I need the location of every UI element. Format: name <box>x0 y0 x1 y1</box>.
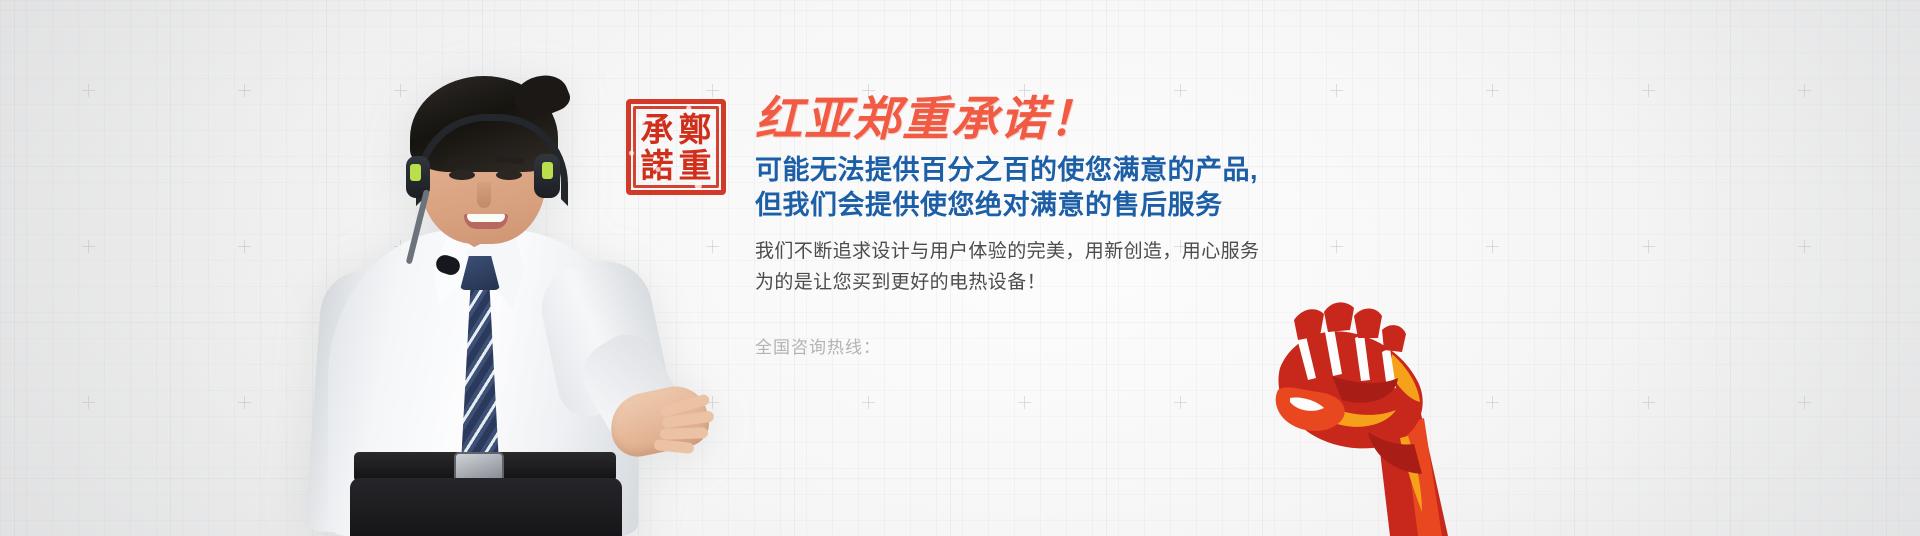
crosshair-mark <box>238 396 251 409</box>
promo-banner: 承 鄭 諾 重 红亚郑重承诺！ 可能无法提供百分之百的使您满意的产品, 但我们会… <box>0 0 1920 536</box>
raised-fist-illustration <box>1272 250 1522 536</box>
crosshair-mark <box>238 84 251 97</box>
headset-accent-left <box>410 164 421 181</box>
crosshair-mark <box>1018 396 1031 409</box>
seal-character-cheng: 承 <box>638 111 676 147</box>
crosshair-mark <box>862 396 875 409</box>
crosshair-mark <box>1798 396 1811 409</box>
crosshair-mark <box>1642 84 1655 97</box>
agent-teeth <box>467 214 505 222</box>
seal-character-zhong: 重 <box>676 147 714 183</box>
subtitle-line-2: 但我们会提供使您绝对满意的售后服务 <box>755 188 1555 223</box>
crosshair-mark <box>82 396 95 409</box>
photo-bottom-fade <box>258 444 728 536</box>
copy-spacer-upper <box>755 223 1555 237</box>
customer-service-agent-photo <box>258 18 728 536</box>
fist-shapes <box>1276 302 1448 536</box>
red-square-seal: 承 鄭 諾 重 <box>626 99 726 195</box>
seal-character-nuo: 諾 <box>638 147 676 183</box>
subtitle-line-1: 可能无法提供百分之百的使您满意的产品, <box>755 153 1555 188</box>
seal-character-zheng: 鄭 <box>676 111 714 147</box>
crosshair-mark <box>1798 240 1811 253</box>
headset-accent-right <box>542 162 553 179</box>
crosshair-mark <box>82 84 95 97</box>
crosshair-mark <box>1642 240 1655 253</box>
agent-finger-3 <box>660 427 708 440</box>
crosshair-mark <box>82 240 95 253</box>
crosshair-mark <box>238 240 251 253</box>
seal-character-grid: 承 鄭 諾 重 <box>638 111 714 183</box>
headline: 红亚郑重承诺！ <box>755 94 1555 144</box>
crosshair-mark <box>1642 396 1655 409</box>
crosshair-mark <box>1798 84 1811 97</box>
crosshair-mark <box>1174 396 1187 409</box>
